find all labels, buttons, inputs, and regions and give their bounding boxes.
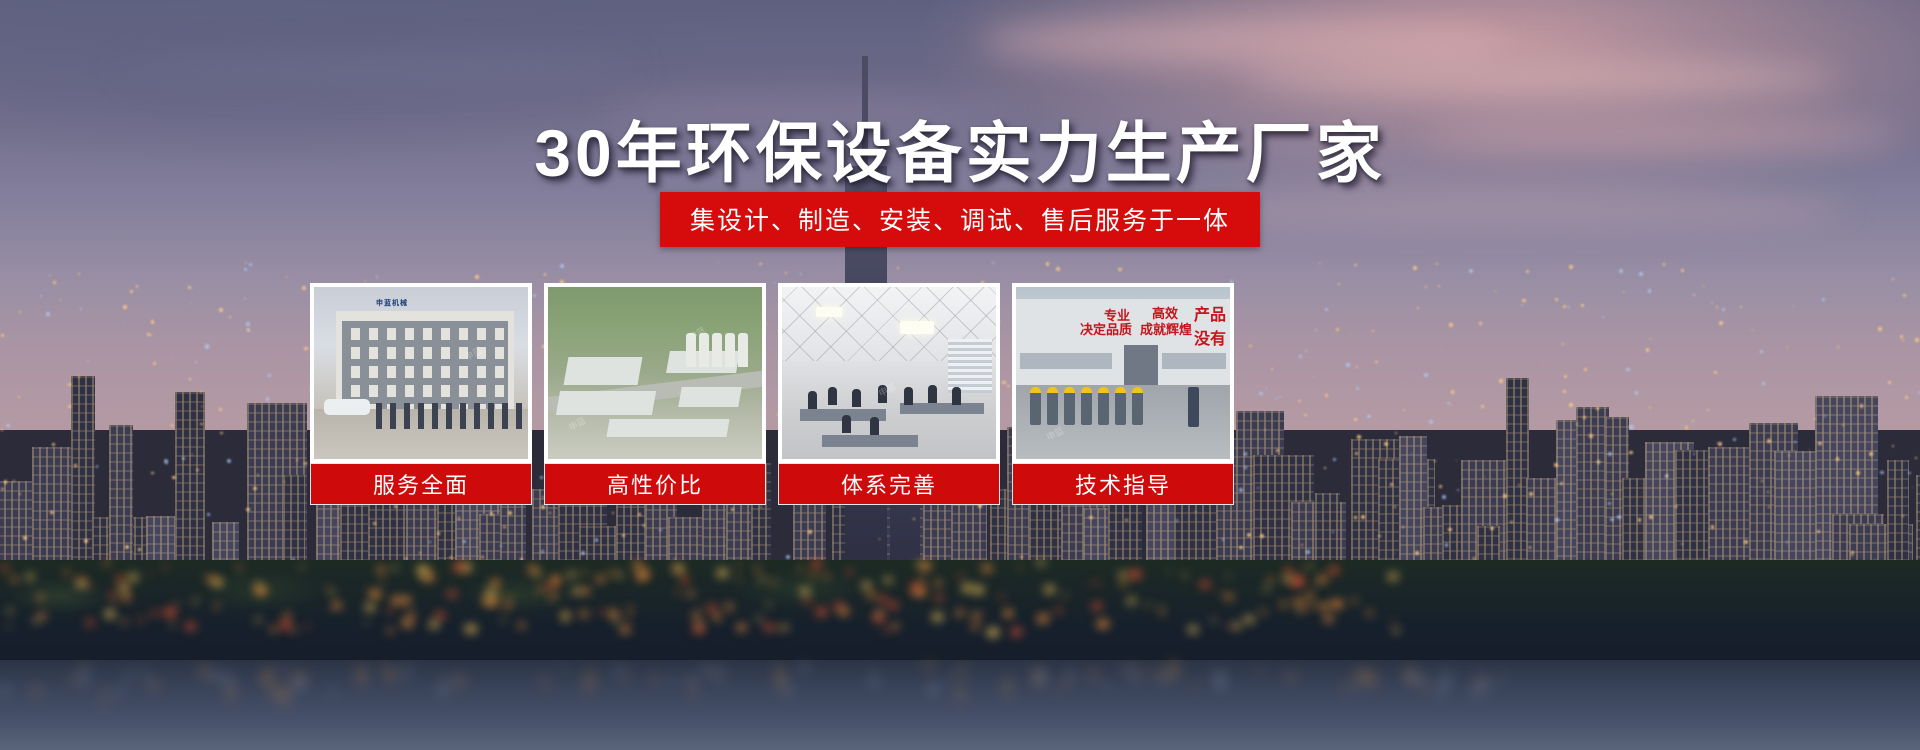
building-window-light	[1610, 518, 1614, 522]
shore-lamp-glow	[956, 610, 964, 616]
water-reflection	[1421, 680, 1428, 691]
shore-lamp-glow	[402, 619, 414, 627]
shore-lamp-glow	[1146, 604, 1150, 607]
water-reflection	[931, 683, 939, 693]
feature-card[interactable]: 申蓝 申蓝 高性价比	[544, 283, 766, 505]
shore-lamp-glow	[7, 609, 13, 613]
building-window-light	[1583, 416, 1586, 419]
shore-lamp-glow	[754, 567, 760, 571]
shore-lamp-glow	[839, 608, 849, 615]
card-thumbnail-factory-workers: 专业高效决定品质成就辉煌产品没有 申蓝	[1012, 283, 1234, 463]
building-window-light	[1325, 308, 1328, 311]
card-caption: 高性价比	[544, 463, 766, 505]
shore-lamp-glow	[1388, 573, 1398, 580]
building-window-light	[1020, 556, 1023, 559]
shore-lamp-glow	[535, 573, 542, 578]
water-reflection	[625, 669, 628, 686]
building-window-light	[500, 545, 502, 547]
building-window-light	[1817, 530, 1820, 533]
water-reflection	[542, 677, 547, 689]
building-window-light	[1332, 531, 1334, 533]
shore-lamp-glow	[1284, 568, 1293, 575]
building-window-light	[1417, 307, 1419, 309]
building-window-light	[1451, 390, 1454, 393]
shore-lamp-glow	[1305, 594, 1313, 599]
water-reflection	[1, 684, 7, 699]
shore-lamp-glow	[1095, 581, 1099, 584]
ceiling-light	[816, 307, 842, 317]
safety-helmet	[1064, 387, 1075, 393]
water-reflection	[947, 674, 952, 681]
shore-lamp-glow	[33, 619, 40, 624]
shore-lamp-glow	[1159, 606, 1163, 609]
shore-lamp-glow	[627, 607, 633, 611]
building-window-light	[1479, 322, 1482, 325]
shore-lamp-glow	[563, 618, 568, 621]
building-window-light	[717, 261, 718, 262]
shore-lamp-glow	[1366, 611, 1373, 616]
building-window-light	[1456, 460, 1458, 462]
shore-lamp-glow	[1062, 594, 1067, 598]
building-window-light	[172, 476, 176, 480]
shore-lamp-glow	[707, 605, 718, 613]
building-window-light	[1434, 460, 1437, 463]
building-window-light	[1429, 420, 1433, 424]
building-window-light	[1619, 269, 1623, 273]
shore-lamp-glow	[680, 577, 689, 583]
building-window-light	[1522, 299, 1525, 302]
water-reflection	[227, 683, 235, 701]
building-window-light	[1569, 403, 1573, 407]
shore-lamp-glow	[280, 620, 291, 628]
building-window-light	[1319, 263, 1321, 265]
shore-lamp-glow	[369, 590, 381, 598]
shore-lamp-glow	[329, 590, 335, 594]
building-window-light	[205, 344, 209, 348]
building-window-light	[1469, 269, 1473, 273]
shore-lamp-glow	[599, 610, 604, 614]
shore-lamp-glow	[499, 593, 503, 596]
water-reflection	[81, 666, 89, 687]
building-window-light	[207, 513, 210, 516]
shore-lamp-glow	[999, 595, 1005, 599]
shore-lamp-glow	[962, 584, 973, 592]
parked-car	[324, 399, 370, 415]
shore-lamp-glow	[86, 620, 94, 626]
building-window-light	[1912, 487, 1913, 488]
building-window-light	[1902, 515, 1904, 517]
building-window-light	[49, 275, 50, 276]
shore-lamp-glow	[725, 604, 733, 610]
building-window-light	[1711, 525, 1714, 528]
building-window-light	[60, 299, 61, 300]
building-window-light	[643, 524, 646, 527]
shore-lamp-glow	[766, 604, 770, 607]
safety-helmet	[1081, 387, 1092, 393]
card-thumbnail-aerial-plant: 申蓝 申蓝	[544, 283, 766, 463]
seated-person	[842, 415, 851, 433]
shore-lamp-glow	[717, 569, 728, 577]
building-window-light	[1560, 482, 1563, 485]
staff-figure	[516, 403, 522, 429]
building-window-light	[544, 273, 546, 275]
building-window-light	[188, 286, 191, 289]
staff-figure	[460, 403, 466, 429]
seated-person	[952, 387, 961, 405]
building-window-light	[200, 391, 201, 392]
shore-lamp-glow	[982, 565, 992, 572]
building-window-light	[1822, 298, 1826, 302]
building-window-light	[284, 359, 285, 360]
building-window-light	[173, 364, 174, 365]
building-window-light	[541, 505, 545, 509]
shore-lamp-glow	[1331, 600, 1343, 608]
building-window-light	[1589, 434, 1593, 438]
water-reflection	[584, 677, 589, 695]
building-window-light	[1372, 330, 1374, 332]
water-reflection	[691, 680, 697, 697]
building-window-light	[268, 374, 271, 377]
worker-figure	[1081, 391, 1092, 425]
staff-figure	[390, 403, 396, 429]
shore-lamp-glow	[255, 618, 261, 622]
building-window-light	[1375, 361, 1378, 364]
water-reflection	[718, 664, 723, 685]
shore-lamp-glow	[447, 591, 456, 597]
building-window-light	[153, 362, 156, 365]
water-reflection	[1215, 669, 1223, 687]
shore-lamp-glow	[641, 570, 649, 576]
building-window-light	[1902, 339, 1904, 341]
building-window-light	[302, 286, 306, 290]
shore-lamp-glow	[823, 574, 828, 578]
shore-lamp-glow	[151, 611, 158, 616]
building-window-light	[365, 280, 367, 282]
building-window-light	[1521, 304, 1523, 306]
shore-lamp-glow	[884, 577, 892, 583]
building-window-light	[1439, 485, 1442, 488]
building-window-light	[1356, 366, 1358, 368]
building-window-light	[1892, 445, 1894, 447]
shore-lamp-glow	[550, 593, 557, 598]
shore-lamp-glow	[883, 628, 889, 632]
water-reflection	[670, 674, 674, 685]
building-window-light	[1271, 368, 1273, 370]
shore-lamp-glow	[504, 604, 511, 609]
feature-card[interactable]: 专业高效决定品质成就辉煌产品没有 申蓝 技术指导	[1012, 283, 1234, 505]
water-reflection	[210, 670, 220, 683]
water-reflection	[280, 685, 289, 705]
feature-card[interactable]: 申蓝 体系完善	[778, 283, 1000, 505]
building-window-light	[1402, 526, 1404, 528]
shore-lamp-glow	[581, 588, 590, 594]
building-window-light	[1257, 487, 1259, 489]
shore-lamp-glow	[987, 628, 999, 636]
water-reflection	[592, 674, 596, 690]
building-window-light	[1692, 420, 1694, 422]
shore-lamp-glow	[692, 613, 700, 619]
ceiling-light	[900, 321, 934, 334]
building-window-light	[1298, 400, 1300, 402]
building-window-light	[1635, 391, 1638, 394]
building-window-light	[1542, 365, 1544, 367]
shore-lamp-glow	[626, 616, 631, 619]
building-window-light	[1915, 338, 1919, 342]
shore-lamp-glow	[170, 623, 175, 627]
water-reflection	[560, 666, 563, 672]
safety-helmet	[1132, 387, 1143, 393]
building-window-light	[50, 511, 54, 515]
shore-lamp-glow	[1311, 604, 1316, 608]
water-reflection	[1343, 684, 1350, 693]
building-window-light	[376, 276, 378, 278]
building-window-light	[1425, 286, 1427, 288]
building-window-light	[1361, 515, 1365, 519]
shore-lamp-glow	[813, 576, 816, 578]
building-window-light	[199, 292, 200, 293]
water-reflection	[357, 666, 366, 685]
water-reflection	[1193, 681, 1197, 689]
shore-lamp-glow	[138, 618, 144, 622]
building-window-light	[1581, 304, 1583, 306]
building-window-light	[1719, 321, 1723, 325]
building-window-light	[244, 298, 246, 300]
plant-building-roof	[678, 387, 742, 407]
building-window-light	[475, 275, 478, 278]
office-desk	[822, 435, 918, 447]
shore-lamp-glow	[507, 597, 513, 601]
building-window-light	[1413, 266, 1417, 270]
shore-lamp-glow	[435, 612, 445, 619]
building-window-light	[46, 312, 50, 316]
building-window-light	[1403, 409, 1405, 411]
office-window-blinds	[948, 339, 992, 393]
shore-lamp-glow	[1219, 591, 1222, 593]
storage-silo	[725, 333, 735, 367]
shore-lamp-glow	[164, 608, 176, 616]
shore-lamp-glow	[11, 577, 18, 582]
shore-lamp-glow	[1283, 576, 1292, 582]
building-window-light	[1518, 484, 1520, 486]
building-window-light	[913, 518, 915, 520]
building-window-light	[123, 305, 127, 309]
shore-lamp-glow	[759, 577, 765, 581]
building-window-light	[1915, 457, 1917, 459]
building-window-light	[1711, 302, 1713, 304]
water-reflection	[1162, 673, 1168, 684]
building-window-light	[96, 465, 99, 468]
building-window-light	[286, 276, 287, 277]
water-reflection	[403, 664, 409, 680]
shore-lamp-glow	[305, 625, 310, 628]
shore-lamp-glow	[1168, 571, 1172, 574]
shore-lamp-glow	[1211, 619, 1216, 623]
building-window-light	[1356, 387, 1359, 390]
shore-lamp-glow	[771, 580, 776, 584]
building-window-light	[1888, 381, 1892, 385]
water-reflection	[1004, 677, 1012, 696]
water-reflection	[1153, 669, 1161, 681]
building-window-light	[1299, 355, 1302, 358]
building-window-light	[245, 262, 247, 264]
shore-lamp-glow	[1055, 608, 1062, 613]
water-reflection	[1034, 667, 1040, 686]
building-window-light	[1908, 472, 1910, 474]
building-facade	[336, 311, 514, 409]
water-reflection	[702, 664, 708, 678]
building-window-light	[1880, 471, 1883, 474]
water-reflection	[957, 682, 963, 703]
shore-lamp-glow	[175, 602, 179, 605]
building-window-light	[463, 540, 466, 543]
building-window-light	[1354, 516, 1357, 519]
staff-figure	[418, 403, 424, 429]
building-window-light	[1357, 435, 1361, 439]
building-window-light	[897, 267, 898, 268]
water-reflection	[1105, 682, 1109, 688]
water-reflection	[143, 663, 146, 685]
shore-lamp-glow	[1036, 614, 1039, 616]
wall-slogan: 产品没有	[1194, 301, 1234, 349]
shore-lamp-glow	[148, 572, 151, 574]
building-window-light	[1703, 285, 1705, 287]
shore-lamp-glow	[64, 571, 70, 575]
building-window-light	[1569, 265, 1573, 269]
building-window-light	[1786, 347, 1788, 349]
shore-lamp-glow	[501, 618, 506, 621]
building-window-light	[190, 302, 192, 304]
building-window-light	[1490, 527, 1493, 530]
shore-lamp-glow	[255, 587, 267, 595]
building-window-light	[1639, 272, 1643, 276]
shore-lamp-glow	[687, 591, 694, 596]
building-window-light	[1279, 396, 1281, 398]
shore-lamp-glow	[934, 581, 941, 586]
building-window-light	[1346, 363, 1350, 367]
building-window-light	[1562, 343, 1564, 345]
feature-card[interactable]: 申蓝机械 申蓝 服务全面	[310, 283, 532, 505]
building-window-light	[1744, 540, 1748, 544]
building-window-light	[1447, 402, 1450, 405]
building-window-light	[1378, 535, 1380, 537]
shore-lamp-glow	[675, 566, 685, 573]
worker-figure	[1064, 391, 1075, 425]
building-window-light	[808, 530, 812, 534]
shore-lamp-glow	[325, 587, 328, 589]
shore-lamp-glow	[633, 562, 643, 569]
water-reflection	[1258, 665, 1262, 676]
shore-lamp-glow	[163, 566, 167, 569]
water-reflection	[1367, 674, 1376, 688]
building-window-light	[1313, 376, 1315, 378]
building-window-light	[68, 405, 71, 408]
staff-figure	[376, 403, 382, 429]
shore-lamp-glow	[911, 591, 915, 594]
building-window-light	[1244, 466, 1247, 469]
shore-lamp-glow	[811, 561, 822, 568]
card-caption: 体系完善	[778, 463, 1000, 505]
building-window-light	[1056, 267, 1060, 271]
building-window-light	[40, 295, 42, 297]
shore-lamp-glow	[867, 592, 875, 598]
shore-lamp-glow	[551, 576, 562, 584]
building-window-light	[130, 290, 133, 293]
water-reflection	[871, 670, 877, 688]
shore-lamp-glow	[485, 590, 496, 598]
building-window-light	[759, 263, 761, 265]
shore-lamp-glow	[116, 576, 125, 582]
shore-lamp-glow	[332, 602, 342, 609]
watermark: 申蓝	[566, 414, 588, 434]
building-window-light	[508, 511, 512, 515]
plant-building-roof	[564, 357, 643, 385]
building-window-light	[560, 264, 564, 268]
building-window-light	[165, 462, 167, 464]
shore-lamp-glow	[920, 562, 931, 570]
building-window-light	[1836, 457, 1839, 460]
building-window-light	[219, 308, 222, 311]
factory-window	[1020, 353, 1112, 369]
seated-person	[852, 389, 861, 407]
building-window-light	[1441, 349, 1442, 350]
shore-lamp-glow	[377, 567, 385, 573]
safety-helmet	[1115, 387, 1126, 393]
water-reflection	[1090, 669, 1096, 682]
shore-lamp-glow	[568, 572, 575, 577]
building-window-light	[66, 410, 68, 412]
water-reflection	[1355, 669, 1363, 684]
shore-lamp-glow	[973, 586, 984, 594]
shore-lamp-glow	[1260, 610, 1265, 614]
building-window-light	[1338, 283, 1340, 285]
seated-person	[808, 391, 817, 409]
shore-lamp-glow	[1037, 560, 1044, 565]
shore-lamp-glow	[26, 574, 35, 580]
building-window-light	[18, 396, 20, 398]
shore-lamp-glow	[1004, 611, 1013, 617]
building-window-light	[1304, 414, 1307, 417]
shore-lamp-glow	[1227, 575, 1230, 577]
shore-lamp-glow	[109, 591, 115, 595]
shore-lamp-glow	[387, 609, 392, 613]
shore-lamp-glow	[596, 576, 606, 583]
building-window-light	[1714, 371, 1717, 374]
shore-lamp-glow	[365, 621, 368, 623]
building-window-light	[1436, 263, 1438, 265]
building-window-light	[1650, 338, 1651, 339]
building-window-light	[1395, 432, 1397, 434]
building-window-light	[1903, 294, 1906, 297]
building-window-light	[1860, 404, 1863, 407]
building-window-light	[1499, 379, 1503, 383]
shore-lamp-glow	[1267, 578, 1274, 583]
shore-lamp-glow	[781, 625, 788, 630]
water-reflection	[440, 677, 447, 698]
building-window-light	[1718, 442, 1722, 446]
staff-figure	[404, 403, 410, 429]
shore-lamp-glow	[1120, 582, 1127, 587]
building-window-light	[229, 316, 232, 319]
staff-figure	[502, 403, 508, 429]
water-reflection	[1057, 684, 1061, 694]
building-window-light	[1324, 467, 1326, 469]
shore-lamp-glow	[1225, 594, 1234, 600]
building-window-light	[1760, 350, 1763, 353]
building-window-light	[1448, 528, 1451, 531]
building-window-light	[1568, 306, 1569, 307]
water-reflection	[1127, 663, 1132, 680]
building-window-light	[1608, 452, 1612, 456]
